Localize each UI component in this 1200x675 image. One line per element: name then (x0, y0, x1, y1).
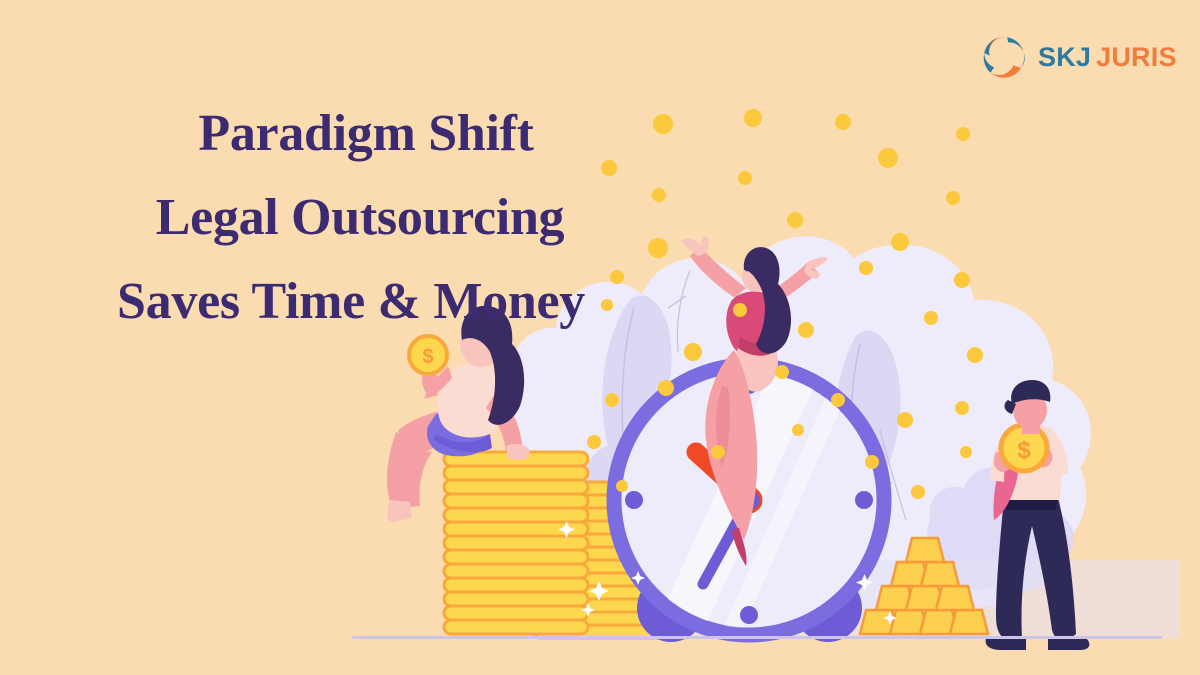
clock-mark-9 (625, 491, 643, 509)
svg-text:$: $ (422, 346, 433, 368)
headline-line-2: Legal Outsourcing (40, 176, 680, 260)
marketing-banner: $ (0, 0, 1200, 675)
skj-juris-ring-icon (978, 31, 1030, 83)
clock-mark-3 (855, 491, 873, 509)
man-shoe-right (1048, 638, 1089, 650)
logo-text-skj: SKJ (1038, 42, 1091, 72)
clock-mark-6 (740, 606, 758, 624)
headline-line-1: Paradigm Shift (52, 92, 680, 176)
svg-text:$: $ (1017, 437, 1031, 464)
coin-stack-front (444, 452, 588, 634)
headline-line-3: Saves Time & Money (22, 260, 680, 344)
headline-block: Paradigm Shift Legal Outsourcing Saves T… (40, 92, 680, 345)
man-shoe-left (986, 638, 1026, 650)
logo-wordmark: SKJJURIS (1038, 44, 1177, 71)
logo-text-juris: JURIS (1096, 42, 1177, 72)
brand-logo[interactable]: SKJJURIS (978, 28, 1178, 86)
ground-line (352, 636, 1162, 639)
